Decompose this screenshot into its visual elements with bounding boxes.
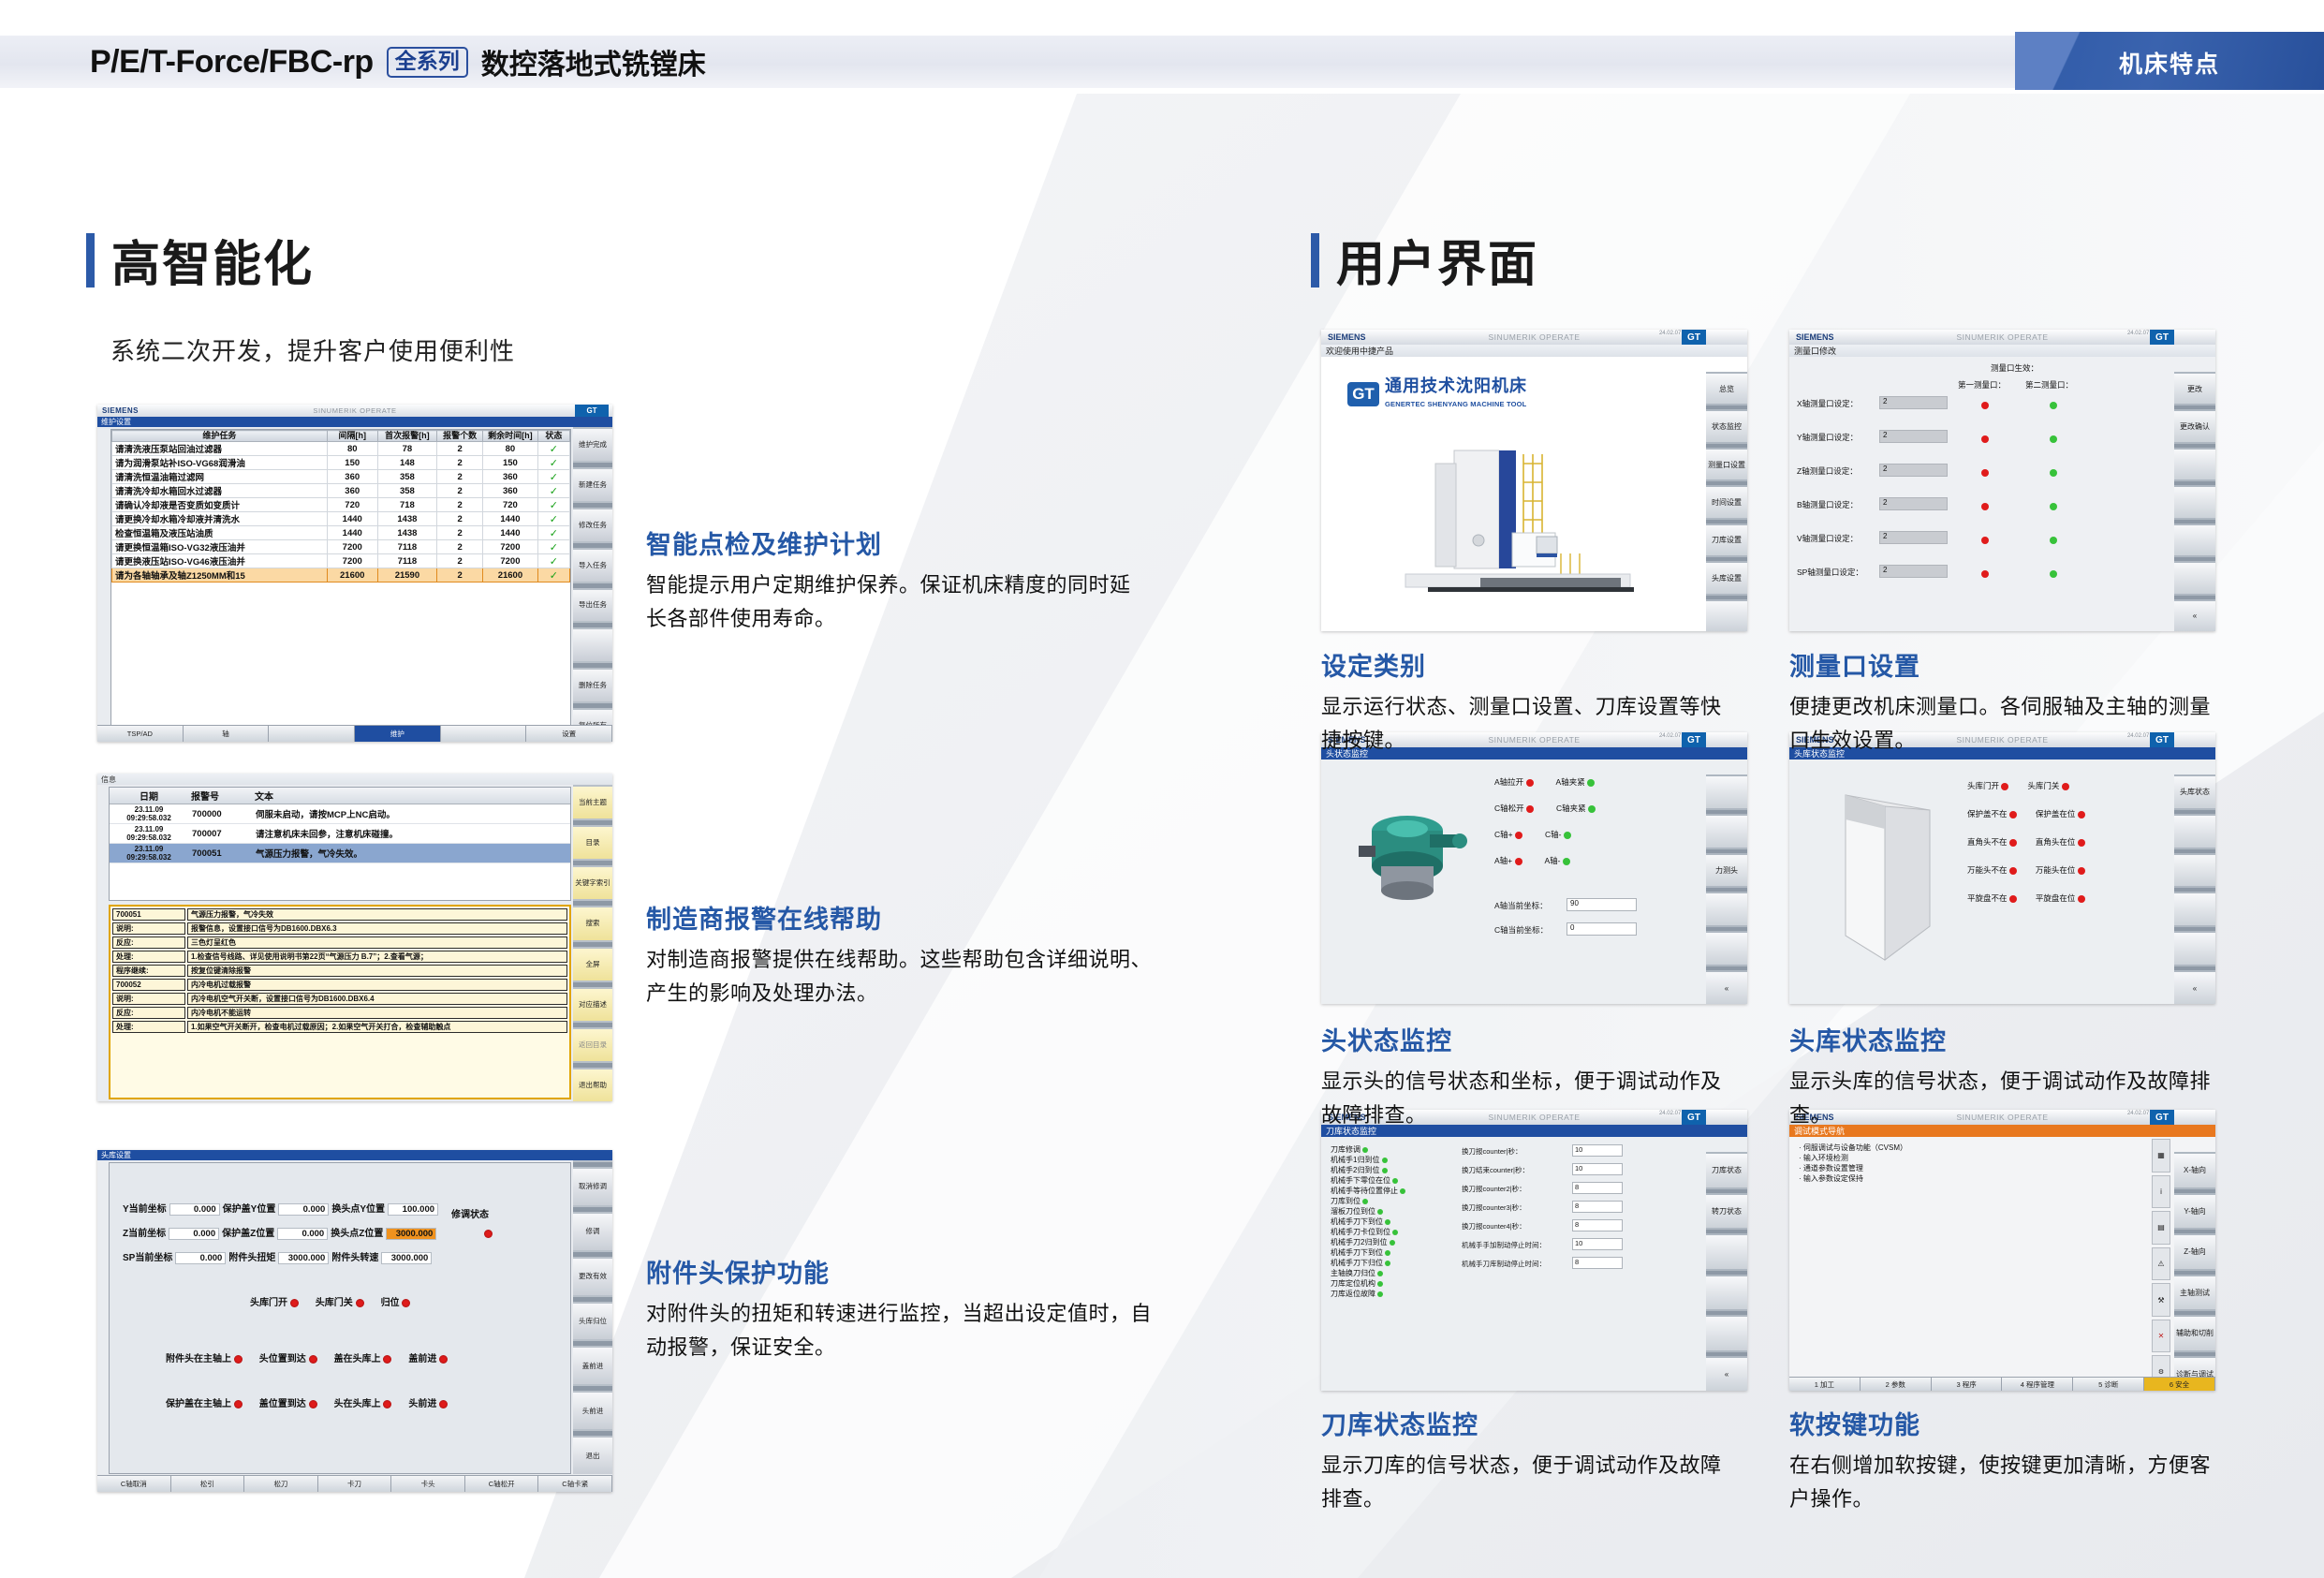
softkey-back-icon[interactable]: « <box>2174 601 2215 631</box>
head-settings-form[interactable]: Y当前坐标0.000保护盖Y位置0.000换头点Y位置100.000Z当前坐标0… <box>109 1162 571 1474</box>
cell-count: 2 <box>437 456 483 470</box>
left-section-title-text: 高智能化 <box>111 225 314 295</box>
cell-task: 请更换冷却水箱冷却液并清洗水 <box>112 512 328 526</box>
softkey-blank[interactable] <box>1706 1276 1747 1310</box>
cell-interval: 720 <box>327 498 377 512</box>
head-bottom-tab-0[interactable]: C轴取消 <box>97 1476 171 1492</box>
cell-count: 2 <box>437 554 483 568</box>
bottom-tab-4[interactable] <box>441 726 527 742</box>
cell-remain: 720 <box>483 498 538 512</box>
cell-status: ✓ <box>537 456 569 470</box>
list-item[interactable]: 23.11.09 09:29:58.032700000伺服未启动，请按MCP上N… <box>110 804 570 824</box>
softkey-gap <box>2174 966 2215 970</box>
help-key: 处理: <box>112 1021 185 1033</box>
toolmag-signal-item: 溜板刀位到位 <box>1331 1206 1405 1217</box>
field-value-2[interactable]: 3000.000 <box>278 1252 329 1264</box>
trim-status-label: 修调状态 <box>451 1206 489 1220</box>
gt-logo-icon: GT <box>575 405 609 417</box>
cell-task: 请为各轴轴承及轴Z1250MM和15 <box>112 568 328 583</box>
help-value: 按复位键清除报警 <box>187 965 567 977</box>
caption-body-4: 显示刀库的信号状态，便于调试动作及故障排查。 <box>1321 1449 1724 1516</box>
softkey-bottom-tabs: 1 加工2 参数3 程序4 程序管理5 诊断6 安全 <box>1789 1377 2215 1391</box>
softkey-status-monitor[interactable]: 状态监控 <box>1706 411 1747 441</box>
softkey-blank[interactable] <box>2174 487 2215 517</box>
screenshot-head-status: SIEMENS SINUMERIK OPERATE 24.02.07 15:07… <box>1321 732 1747 1004</box>
help-row: 反应:内冷电机不能运转 <box>112 1007 567 1019</box>
lamp-right-label: C轴夹紧 <box>1556 804 1586 813</box>
param-value[interactable]: 8 <box>1572 1182 1623 1194</box>
status-led-icon <box>2009 839 2017 847</box>
debug-nav-item[interactable]: · 输入参数设定保持 <box>1799 1173 1907 1184</box>
alarm-nc-shell: 信息 日期 报警号 文本 23.11.09 09:29:58.032700000… <box>97 774 612 1101</box>
softkey-gap <box>1706 1230 1747 1233</box>
coord-value[interactable]: 90 <box>1566 898 1637 911</box>
softkey-empty[interactable] <box>573 629 612 661</box>
caption-body-0: 显示运行状态、测量口设置、刀库设置等快捷按键。 <box>1321 690 1724 758</box>
table-row[interactable]: 请更换恒温箱ISO-VG32液压油并7200711827200✓ <box>112 540 570 554</box>
param-value[interactable]: 10 <box>1572 1163 1623 1175</box>
debug-nav-item[interactable]: · 通道参数设置管理 <box>1799 1163 1907 1173</box>
field-value-2[interactable]: 0.000 <box>278 1203 329 1216</box>
softkey-cancel-trim[interactable]: 取消修调 <box>573 1169 612 1205</box>
softkey-gap <box>1706 557 1747 561</box>
toolmag-signal-item: 机械手刀下到位 <box>1331 1217 1405 1227</box>
softkey-blank[interactable] <box>2174 816 2215 848</box>
softkey-gap <box>573 703 612 708</box>
softkey-gap <box>573 982 612 987</box>
softkey-change-tool-status[interactable]: 转刀状态 <box>1706 1195 1747 1229</box>
lamp-left-label: A轴+ <box>1494 856 1512 865</box>
softkey-gap <box>1706 966 1747 970</box>
screen-body-2: 测量口生效： 第一测量口： 第二测量口： X轴测量口设定：2Y轴测量口设定：2Z… <box>1789 357 2215 631</box>
caption-toolmag-status: 刀库状态监控 显示刀库的信号状态，便于调试动作及故障排查。 <box>1321 1405 1724 1516</box>
help-row: 反应:三色灯呈红色 <box>112 936 567 949</box>
softkey-y-axis[interactable]: Y-轴向 <box>2174 1195 2215 1229</box>
softkey-blank[interactable] <box>1706 1317 1747 1350</box>
bottom-tab[interactable]: 2 参数 <box>1861 1378 1932 1391</box>
table-row[interactable]: 请为各轴轴承及轴Z1250MM和152160021590221600✓ <box>112 568 570 583</box>
alarm-date: 23.11.09 09:29:58.032 <box>110 844 188 863</box>
softkey-new-task[interactable]: 新建任务 <box>573 469 612 501</box>
head-store-screenshot: 头库设置 Y当前坐标0.000保护盖Y位置0.000换头点Y位置100.000Z… <box>97 1150 612 1492</box>
softkey-overview[interactable]: 总览 <box>1706 374 1747 404</box>
softkey-toolmag-status[interactable]: 刀库状态 <box>1706 1154 1747 1187</box>
cell-count: 2 <box>437 442 483 456</box>
info-icon[interactable]: i <box>2152 1175 2170 1209</box>
debug-nav-item[interactable]: · 伺服调试与设备功能（CVSM） <box>1799 1143 1907 1153</box>
cell-first: 1438 <box>377 526 437 540</box>
toolmag-signal-item: 机械手2归到位 <box>1331 1165 1405 1175</box>
softkey-gap <box>2174 1189 2215 1193</box>
softkey-export-task[interactable]: 导出任务 <box>573 590 612 622</box>
lamp-item: 头在头库上 <box>334 1399 392 1409</box>
cell-status: ✓ <box>537 540 569 554</box>
softkey-back-icon[interactable]: « <box>1706 1358 1747 1392</box>
softkey-bar-4: 头库状态 « <box>2174 774 2215 1004</box>
status-led-icon <box>1515 832 1522 839</box>
table-row[interactable]: 请清洗液压泵站回油过滤器8078280✓ <box>112 442 570 456</box>
trim-status-lamp <box>484 1229 493 1239</box>
softkey-exit-help[interactable]: 退出帮助 <box>573 1069 612 1101</box>
caption-headstore-status: 头库状态监控 显示头库的信号状态，便于调试动作及故障排查。 <box>1789 1021 2211 1132</box>
field-value-current[interactable]: 0.000 <box>169 1203 220 1216</box>
softkey-head-forward[interactable]: 头前进 <box>573 1393 612 1429</box>
softkey-gap <box>573 543 612 548</box>
debug-nav-item[interactable]: · 输入环境检测 <box>1799 1153 1907 1163</box>
right-section-title: 用户界面 <box>1311 225 1538 295</box>
close-icon[interactable]: ✕ <box>2152 1320 2170 1353</box>
help-key: 程序继续: <box>112 965 185 977</box>
alarm-help-table-wrap[interactable]: 700051气源压力报警，气冷失效说明:报警信息，设置接口信号为DB1600.D… <box>109 905 571 1099</box>
cell-interval: 7200 <box>327 554 377 568</box>
field-value-current[interactable]: 0.000 <box>175 1252 226 1264</box>
header-tab[interactable]: 机床特点 <box>2015 32 2324 90</box>
bottom-tab[interactable]: 3 程序 <box>1932 1378 2003 1391</box>
caption-softkey-function: 软按键功能 在右侧增加软按键，使按键更加清晰，方便客户操作。 <box>1789 1405 2211 1516</box>
toolmag-signal-item: 机械手刀下归位 <box>1331 1258 1405 1268</box>
softkey-back-to-contents[interactable]: 返回目录 <box>573 1029 612 1061</box>
field-value-3[interactable]: 3000.000 <box>386 1228 436 1240</box>
softkey-current-topic[interactable]: 当前主题 <box>573 787 612 818</box>
softkey-maintenance-done[interactable]: 维护完成 <box>573 429 612 461</box>
softkey-gap <box>2174 1230 2215 1233</box>
caption-body-5: 在右侧增加软按键，使按键更加清晰，方便客户操作。 <box>1789 1449 2211 1516</box>
alarm-body: 日期 报警号 文本 23.11.09 09:29:58.032700000伺服未… <box>97 785 612 1101</box>
softkey-back-icon[interactable]: « <box>1706 972 1747 1004</box>
status-led-icon <box>1385 1261 1390 1266</box>
head-bottom-tab-2[interactable]: 松刀 <box>244 1476 318 1492</box>
headstore-lamp-pair: 万能头不在 万能头在位 <box>1967 864 2085 876</box>
softkey-change-confirm[interactable]: 更改确认 <box>2174 411 2215 441</box>
field-label-3: 附件头转速 <box>331 1253 378 1263</box>
head-status-lamp-pair: C轴+ C轴- <box>1494 829 1571 840</box>
softkey-edit-task[interactable]: 修改任务 <box>573 509 612 541</box>
measure-input[interactable]: 2 <box>1879 464 1948 477</box>
coord-value[interactable]: 0 <box>1566 922 1637 936</box>
softkey-blank[interactable] <box>1706 601 1747 631</box>
param-value[interactable]: 8 <box>1572 1201 1623 1213</box>
cell-remain: 7200 <box>483 540 538 554</box>
bottom-tab[interactable]: 5 诊断 <box>2073 1378 2144 1391</box>
caption-maintenance-body: 智能提示用户定期维护保养。保证机床精度的同时延长各部件使用寿命。 <box>646 568 1142 636</box>
measure-input[interactable]: 2 <box>1879 396 1948 409</box>
measure-led-2 <box>2050 465 2057 481</box>
status-led-icon <box>309 1355 317 1364</box>
measure-input[interactable]: 2 <box>1879 565 1948 578</box>
lamp-right-label: 头库门关 <box>2027 781 2059 790</box>
measure-led-1 <box>1981 397 1989 414</box>
softkey-import-task[interactable]: 导入任务 <box>573 550 612 582</box>
list-item[interactable]: 23.11.09 09:29:58.032700007请注意机床未回参，注意机床… <box>110 824 570 844</box>
nc-titlebar-1: SIEMENS SINUMERIK OPERATE 24.02.07 15:07… <box>1321 330 1747 345</box>
table-row[interactable]: 请清洗恒温油箱过滤网3603582360✓ <box>112 470 570 484</box>
param-value[interactable]: 8 <box>1572 1219 1623 1231</box>
headstore-lamp-pair: 直角头不在 直角头在位 <box>1967 836 2085 848</box>
measure-led-2 <box>2050 532 2057 549</box>
head-bottom-tab-1[interactable]: 松引 <box>171 1476 245 1492</box>
softkey-gap <box>1706 1271 1747 1275</box>
head-bottom-tab-6[interactable]: C轴卡紧 <box>538 1476 612 1492</box>
softkey-blank[interactable] <box>1706 933 1747 965</box>
field-value-2[interactable]: 0.000 <box>277 1228 328 1240</box>
lamp-right-label: 直角头在位 <box>2036 837 2076 847</box>
softkey-blank[interactable] <box>1706 776 1747 808</box>
cell-task: 请清洗冷却水箱回水过滤器 <box>112 484 328 498</box>
help-value: 气源压力报警，气冷失效 <box>187 908 567 921</box>
softkey-tool-magazine[interactable]: 刀库设置 <box>1706 525 1747 555</box>
table-row[interactable]: 请清洗冷却水箱回水过滤器3603582360✓ <box>112 484 570 498</box>
caption-head: 附件头保护功能 对附件头的扭矩和转速进行监控，当超出设定值时，自动报警，保证安全… <box>646 1253 1152 1364</box>
cell-status: ✓ <box>537 498 569 512</box>
status-led-icon <box>1390 1240 1395 1246</box>
cell-count: 2 <box>437 484 483 498</box>
lamp-left-label: C轴松开 <box>1494 804 1524 813</box>
status-led-icon <box>2062 783 2069 790</box>
softkey-blank[interactable] <box>2174 855 2215 887</box>
cell-status: ✓ <box>537 512 569 526</box>
cell-status: ✓ <box>537 568 569 583</box>
softkey-x-axis[interactable]: X-轴向 <box>2174 1154 2215 1187</box>
caption-head-status: 头状态监控 显示头的信号状态和坐标，便于调试动作及故障排查。 <box>1321 1021 1724 1132</box>
screenshot-toolmag-status: SIEMENS SINUMERIK OPERATE 24.02.07 15:07… <box>1321 1110 1747 1391</box>
caption-body-3: 显示头库的信号状态，便于调试动作及故障排查。 <box>1789 1065 2211 1132</box>
softkey-blank[interactable] <box>2174 525 2215 555</box>
screenshot-headstore-status: SIEMENS SINUMERIK OPERATE 24.02.07 15:07… <box>1789 732 2215 1004</box>
warning-icon[interactable]: ⚠ <box>2152 1247 2170 1281</box>
cell-task: 请为润滑泵站补ISO-VG68润滑油 <box>112 456 328 470</box>
caption-head-body: 对附件头的扭矩和转速进行监控，当超出设定值时，自动报警，保证安全。 <box>646 1297 1152 1364</box>
bottom-tab-1[interactable]: 轴 <box>184 726 270 742</box>
softkey-blank[interactable] <box>2174 450 2215 479</box>
nc-shell-6: SIEMENS SINUMERIK OPERATE 24.02.07 15:07… <box>1789 1110 2215 1391</box>
cell-first: 148 <box>377 456 437 470</box>
alarm-number: 700051 <box>188 844 252 863</box>
col-alarm-count: 报警个数 <box>437 431 483 442</box>
field-value-current[interactable]: 0.000 <box>169 1228 219 1240</box>
status-led-icon <box>1377 1291 1383 1297</box>
head-field-row[interactable]: SP当前坐标0.000附件头扭矩3000.000附件头转速3000.000 <box>123 1249 434 1264</box>
lamp-item: 附件头在主轴上 <box>166 1354 243 1364</box>
param-value[interactable]: 10 <box>1572 1144 1623 1157</box>
softkey-search[interactable]: 搜索 <box>573 907 612 939</box>
screen-body-3: A轴拉开 A轴夹紧 C轴松开 C轴夹紧 C轴+ C轴- A轴+ A轴- A轴当前… <box>1321 760 1747 1004</box>
machine-illustration <box>1387 443 1668 607</box>
caption-title-3: 头库状态监控 <box>1789 1021 2211 1057</box>
softkey-spindle-test[interactable]: 主轴测试 <box>2174 1276 2215 1310</box>
operate-label: SINUMERIK OPERATE <box>313 406 396 415</box>
measure-input[interactable]: 2 <box>1879 531 1948 544</box>
softkey-z-axis[interactable]: Z-轴向 <box>2174 1235 2215 1269</box>
help-key: 说明: <box>112 993 185 1005</box>
softkey-bar-1: 总览 状态监控 测量口设置 时间设置 刀库设置 头库设置 <box>1706 372 1747 631</box>
genertec-name-en: GENERTEC SHENYANG MACHINE TOOL <box>1385 400 1526 408</box>
help-value: 内冷电机不能运转 <box>187 1007 567 1019</box>
lamp-item: 头库门开 <box>250 1298 299 1308</box>
head-bottom-tab-4[interactable]: 卡头 <box>391 1476 465 1492</box>
cell-interval: 7200 <box>327 540 377 554</box>
table-row[interactable]: 请更换冷却水箱冷却液并清洗水1440143821440✓ <box>112 512 570 526</box>
caption-alarm-title: 制造商报警在线帮助 <box>646 899 1152 936</box>
alarm-text: 请注意机床未回参，注意机床碰撞。 <box>252 824 570 844</box>
softkey-cover-forward[interactable]: 盖前进 <box>573 1348 612 1384</box>
status-led-icon <box>2078 839 2085 847</box>
col-status: 状态 <box>537 431 569 442</box>
caption-measure-port: 测量口设置 便捷更改机床测量口。各伺服轴及主轴的测量口生效设置。 <box>1789 646 2211 758</box>
help-key: 700051 <box>112 908 185 921</box>
softkey-head-home[interactable]: 头库归位 <box>573 1304 612 1340</box>
param-value[interactable]: 10 <box>1572 1238 1623 1250</box>
header-title-group: P/E/T-Force/FBC-rp 全系列 数控落地式铣镗床 <box>90 41 706 82</box>
status-led-icon <box>1382 1158 1388 1163</box>
help-value: 1.检查信号线路、详见使用说明书第22页“气源压力 B.7”；2.查看气源； <box>187 951 567 963</box>
caption-title-1: 测量口设置 <box>1789 646 2211 683</box>
lamp-left-label: 直角头不在 <box>1967 837 2008 847</box>
lamp-right-label: A轴- <box>1545 856 1561 865</box>
softkey-blank[interactable] <box>1706 1235 1747 1269</box>
bottom-tab[interactable]: 4 程序管理 <box>2002 1378 2073 1391</box>
list-item[interactable]: 23.11.09 09:29:58.032700051气源压力报警，气冷失效。 <box>110 844 570 863</box>
alarm-col-no: 报警号 <box>188 788 252 804</box>
head-bottom-tab-5[interactable]: C轴松开 <box>465 1476 539 1492</box>
caption-title-2: 头状态监控 <box>1321 1021 1724 1057</box>
cell-interval: 21600 <box>327 568 377 583</box>
softkey-aux-cut[interactable]: 辅助和切削 <box>2174 1317 2215 1350</box>
measure-input[interactable]: 2 <box>1879 430 1948 443</box>
field-value-3[interactable]: 3000.000 <box>381 1252 432 1264</box>
headstore-lamp-pair: 平旋盘不在 平旋盘在位 <box>1967 892 2085 904</box>
cell-remain: 80 <box>483 442 538 456</box>
softkey-related-desc[interactable]: 对应描述 <box>573 989 612 1021</box>
nc-shell-4: SIEMENS SINUMERIK OPERATE 24.02.07 15:07… <box>1789 732 2215 1004</box>
softkey-headstore-status[interactable]: 头库状态 <box>2174 776 2215 808</box>
measure-led-1 <box>1981 532 1989 549</box>
measure-label: SP轴测量口设定： <box>1797 567 1863 578</box>
maintenance-table: 维护任务 间隔[h] 首次报警[h] 报警个数 剩余时间[h] 状态 请清洗液压… <box>111 430 570 583</box>
status-led-icon <box>356 1299 364 1307</box>
lamp-item: 归位 <box>381 1298 411 1308</box>
head-bottom-tab-3[interactable]: 卡刀 <box>318 1476 392 1492</box>
softkey-gap <box>573 1162 612 1167</box>
head-field-row[interactable]: Y当前坐标0.000保护盖Y位置0.000换头点Y位置100.000 <box>123 1201 441 1216</box>
softkey-head-store[interactable]: 头库设置 <box>1706 563 1747 593</box>
status-led-icon <box>2009 811 2017 818</box>
softkey-head-probe[interactable]: 力测头 <box>1706 855 1747 887</box>
table-row[interactable]: 请为润滑泵站补ISO-VG68润滑油1501482150✓ <box>112 456 570 470</box>
softkey-blank[interactable] <box>2174 893 2215 925</box>
softkey-keyword-index[interactable]: 关键字索引 <box>573 867 612 899</box>
toolmag-signal-item: 主轴换刀归位 <box>1331 1268 1405 1278</box>
softkey-gap <box>2174 557 2215 561</box>
nc-titlebar: SIEMENS SINUMERIK OPERATE GT <box>97 405 612 417</box>
maintenance-softkey-bar: 维护完成 新建任务 修改任务 导入任务 导出任务 删除任务 复位所有 <box>573 427 612 742</box>
softkey-time-setting[interactable]: 时间设置 <box>1706 487 1747 517</box>
maintenance-body: 维护任务 间隔[h] 首次报警[h] 报警个数 剩余时间[h] 状态 请清洗液压… <box>97 427 612 742</box>
softkey-gap <box>573 1023 612 1027</box>
maintenance-header-row: 维护任务 间隔[h] 首次报警[h] 报警个数 剩余时间[h] 状态 <box>112 431 570 442</box>
help-key: 反应: <box>112 1007 185 1019</box>
softkey-apply-change[interactable]: 更改有效 <box>573 1259 612 1295</box>
product-subtitle: 数控落地式铣镗床 <box>481 41 706 82</box>
siemens-brand: SIEMENS <box>102 406 139 415</box>
status-led-icon <box>2078 895 2085 903</box>
screenshot-setting-category: SIEMENS SINUMERIK OPERATE 24.02.07 15:07… <box>1321 330 1747 631</box>
softkey-contents[interactable]: 目录 <box>573 827 612 859</box>
bottom-tab-0[interactable]: TSP/AD <box>97 726 184 742</box>
cell-interval: 80 <box>327 442 377 456</box>
head-field-row[interactable]: Z当前坐标0.000保护盖Z位置0.000换头点Z位置3000.000 <box>123 1225 439 1240</box>
softkey-blank[interactable] <box>1706 893 1747 925</box>
help-row: 处理:1.如果空气开关断开，检查电机过载原因；2.如果空气开关打合，检查辅助触点 <box>112 1021 567 1033</box>
softkey-blank[interactable] <box>1706 816 1747 848</box>
softkey-blank[interactable] <box>2174 563 2215 593</box>
cell-interval: 150 <box>327 456 377 470</box>
softkey-gap <box>573 942 612 947</box>
param-label: 换刀报counter4|秒： <box>1462 1221 1526 1231</box>
col-interval: 间隔[h] <box>327 431 377 442</box>
alarm-col-date: 日期 <box>110 788 188 804</box>
alarm-header-row: 日期 报警号 文本 <box>110 788 570 804</box>
grid-icon[interactable]: ▦ <box>2152 1139 2170 1172</box>
cell-interval: 360 <box>327 484 377 498</box>
softkey-gap <box>2174 927 2215 931</box>
softkey-gap <box>2174 849 2215 853</box>
status-led-icon <box>2009 867 2017 875</box>
softkey-gap <box>573 1386 612 1391</box>
bottom-tab[interactable]: 1 加工 <box>1789 1378 1861 1391</box>
bottom-tab-2[interactable] <box>269 726 355 742</box>
bottom-tab-5[interactable]: 设置 <box>526 726 612 742</box>
cell-status: ✓ <box>537 554 569 568</box>
toolmag-signal-item: 刀库定位机构 <box>1331 1278 1405 1289</box>
softkey-measure-port[interactable]: 测量口设置 <box>1706 450 1747 479</box>
lamp-row: 保护盖在主轴上 盖位置到达 头在头库上 头前进 <box>166 1395 464 1409</box>
lamp-left-label: 万能头不在 <box>1967 865 2008 875</box>
field-label: Y当前坐标 <box>123 1204 167 1215</box>
cell-remain: 7200 <box>483 554 538 568</box>
softkey-delete-task[interactable]: 删除任务 <box>573 670 612 701</box>
softkey-exit[interactable]: 退出 <box>573 1438 612 1474</box>
softkey-gap <box>573 583 612 588</box>
maintenance-table-wrap[interactable]: 维护任务 间隔[h] 首次报警[h] 报警个数 剩余时间[h] 状态 请清洗液压… <box>110 429 571 738</box>
softkey-gap <box>573 663 612 668</box>
alarm-list[interactable]: 日期 报警号 文本 23.11.09 09:29:58.032700000伺服未… <box>109 787 571 901</box>
field-value-3[interactable]: 100.000 <box>388 1203 438 1216</box>
softkey-gap <box>573 1063 612 1068</box>
table-row[interactable]: 请确认冷却液是否变质如变质计7207182720✓ <box>112 498 570 512</box>
caption-body-2: 显示头的信号状态和坐标，便于调试动作及故障排查。 <box>1321 1065 1724 1132</box>
document-icon[interactable]: ▤ <box>2152 1211 2170 1245</box>
param-value[interactable]: 8 <box>1572 1257 1623 1269</box>
softkey-trim[interactable]: 修调 <box>573 1214 612 1250</box>
bottom-tab[interactable]: 6 安全 <box>2144 1378 2215 1391</box>
lamp-right-label: 平旋盘在位 <box>2036 893 2076 903</box>
table-row[interactable]: 检查恒温箱及液压站油质1440143821440✓ <box>112 526 570 540</box>
lamp-item: 头库门关 <box>316 1298 364 1308</box>
softkey-fullscreen[interactable]: 全屏 <box>573 949 612 981</box>
softkey-back-icon[interactable]: « <box>2174 972 2215 1004</box>
wrench-icon[interactable]: ⚒ <box>2152 1283 2170 1317</box>
header-tab-label: 机床特点 <box>2015 46 2324 80</box>
bottom-tab-3[interactable]: 维护 <box>355 726 441 742</box>
softkey-change[interactable]: 更改 <box>2174 374 2215 404</box>
param-label: 换刀结束counter|秒： <box>1462 1165 1529 1175</box>
lamp-right-label: 保护盖在位 <box>2036 809 2076 818</box>
table-row[interactable]: 请更换液压站ISO-VG46液压油并7200711827200✓ <box>112 554 570 568</box>
softkey-blank[interactable] <box>2174 933 2215 965</box>
title-accent-bar <box>1311 233 1319 288</box>
status-led-icon <box>1377 1271 1383 1276</box>
measure-input[interactable]: 2 <box>1879 497 1948 510</box>
